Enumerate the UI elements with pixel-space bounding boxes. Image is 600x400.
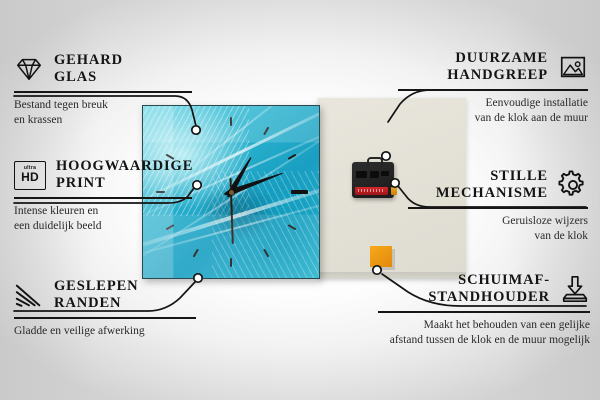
diamond-icon — [14, 54, 44, 84]
feature-schuimafstandhouder[interactable]: SCHUIMAF- STANDHOUDER Maakt het behouden… — [378, 272, 590, 348]
feature-duurzame-handgreep[interactable]: DUURZAME HANDGREEP Eenvoudige installati… — [398, 50, 588, 126]
ultra-hd-large-label: HD — [21, 171, 39, 184]
feature-title-line1: HOOGWAARDIGE — [56, 158, 193, 175]
arrow-down-pad-icon — [560, 274, 590, 304]
feature-title-line2: HANDGREEP — [447, 67, 548, 84]
feature-description: Maakt het behouden van een gelijke afsta… — [378, 318, 590, 348]
feature-divider — [14, 91, 192, 93]
picture-frame-icon — [558, 52, 588, 82]
feature-divider — [14, 317, 196, 319]
feature-description: Geruisloze wijzers van de klok — [408, 214, 588, 244]
feature-divider — [378, 311, 590, 313]
ultra-hd-icon: ultra HD — [14, 161, 46, 190]
feature-geslepen-randen[interactable]: GESLEPEN RANDEN Gladde en veilige afwerk… — [14, 278, 196, 339]
feature-gehard-glas[interactable]: GEHARD GLAS Bestand tegen breuk en krass… — [14, 52, 192, 128]
feature-description: Intense kleuren en een duidelijk beeld — [14, 204, 192, 234]
feature-description: Eenvoudige installatie van de klok aan d… — [398, 96, 588, 126]
feature-stille-mechanisme[interactable]: STILLE MECHANISME Geruisloze wijzers van… — [408, 168, 588, 244]
feature-title-line2: STANDHOUDER — [428, 289, 550, 306]
feature-divider — [408, 207, 588, 209]
feature-hoogwaardige-print[interactable]: ultra HD HOOGWAARDIGE PRINT Intense kleu… — [14, 158, 192, 234]
gear-icon — [558, 170, 588, 200]
feature-title-line1: GEHARD — [54, 52, 123, 69]
feature-title-line2: RANDEN — [54, 295, 121, 312]
feature-title-line2: PRINT — [56, 175, 106, 192]
diagonal-lines-icon — [14, 280, 44, 310]
feature-title-line1: SCHUIMAF- — [458, 272, 550, 289]
feature-divider — [14, 197, 192, 199]
feature-title-line2: GLAS — [54, 69, 97, 86]
feature-description: Bestand tegen breuk en krassen — [14, 98, 192, 128]
feature-title-line2: MECHANISME — [436, 185, 548, 202]
feature-title-line1: GESLEPEN — [54, 278, 139, 295]
feature-divider — [398, 89, 588, 91]
infographic-canvas: GEHARD GLAS Bestand tegen breuk en krass… — [0, 0, 600, 400]
feature-title-line1: STILLE — [490, 168, 548, 185]
feature-description: Gladde en veilige afwerking — [14, 324, 196, 339]
feature-title-line1: DUURZAME — [455, 50, 548, 67]
